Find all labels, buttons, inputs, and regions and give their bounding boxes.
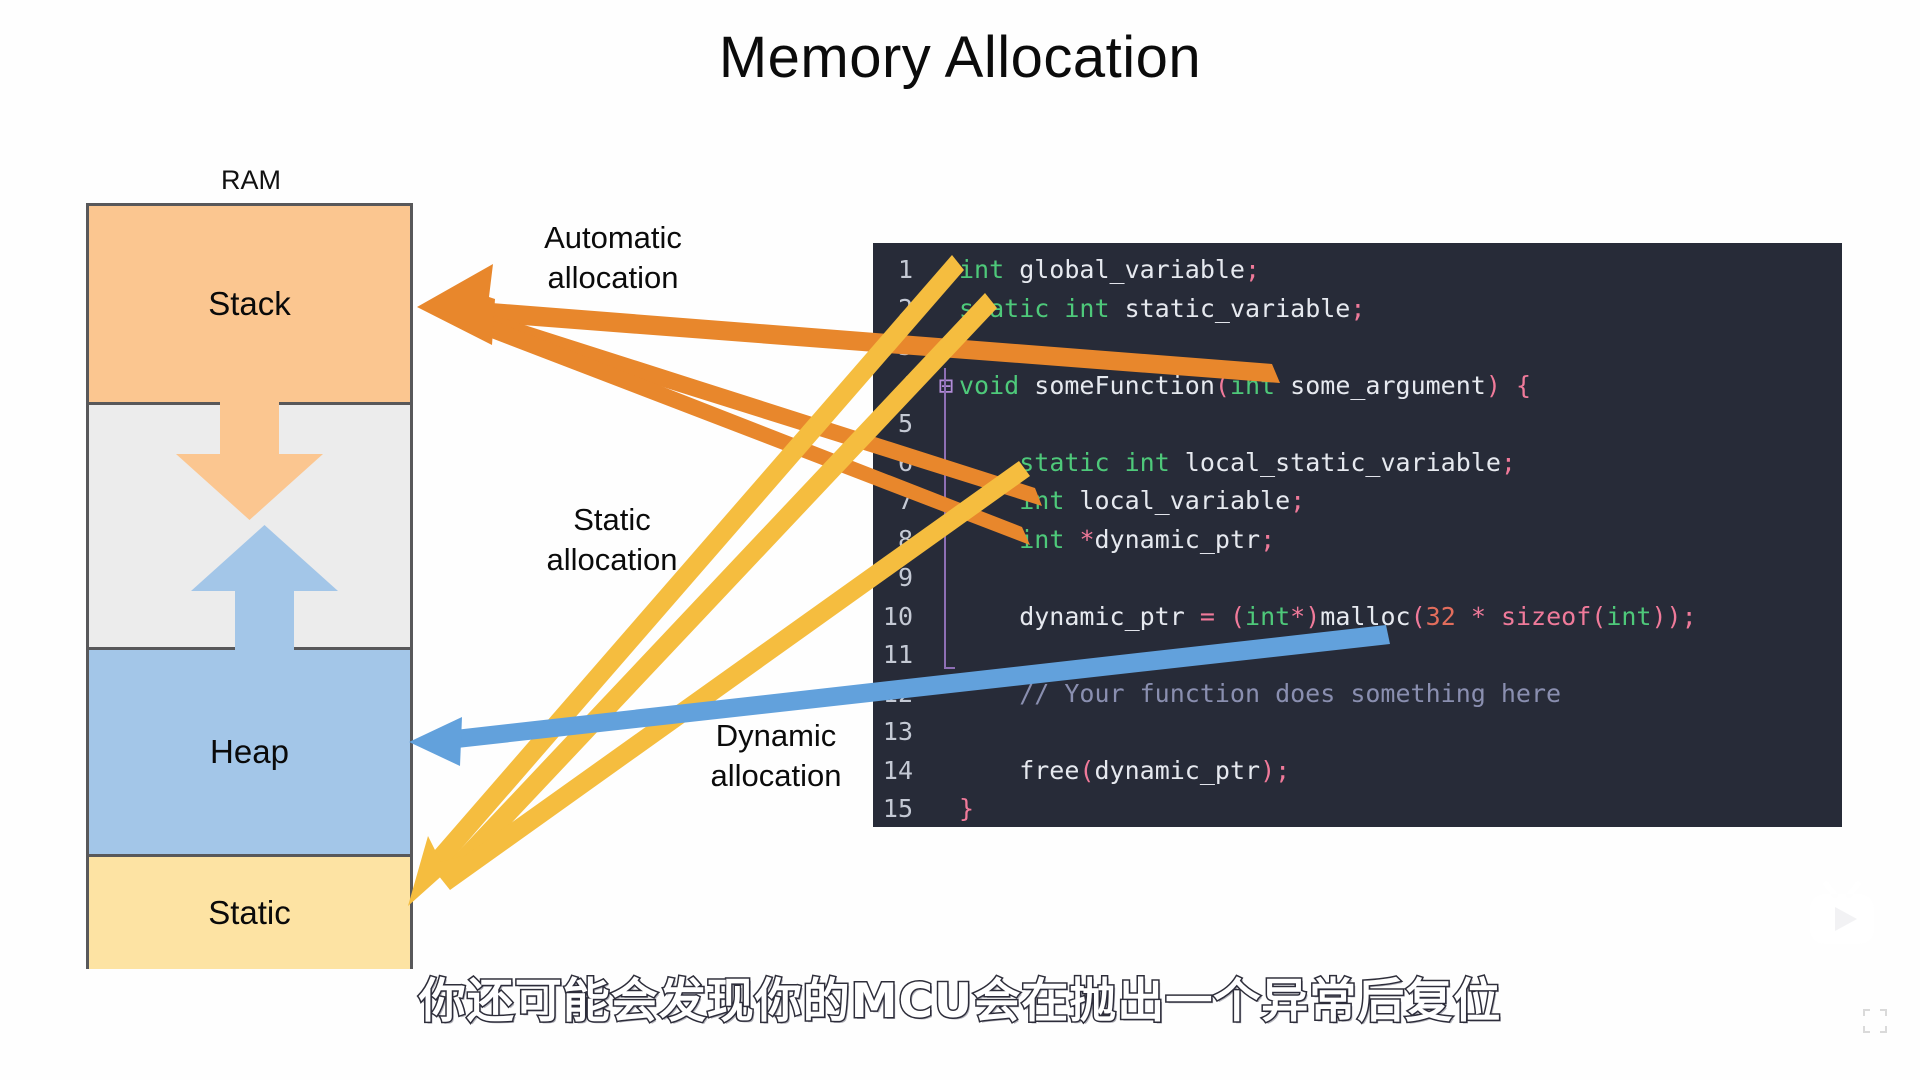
code-editor-panel: 1 int global_variable; 2 static int stat…	[873, 243, 1842, 827]
code-line-text: int local_variable;	[959, 482, 1305, 521]
code-line-number: 9	[873, 559, 933, 598]
code-line-number: 4	[873, 367, 933, 406]
code-line-number: 5	[873, 405, 933, 444]
code-line-text: void someFunction(int some_argument) {	[959, 367, 1531, 406]
code-line: 7 int local_variable;	[873, 482, 1842, 521]
annotation-label-dynamic: Dynamic allocation	[666, 716, 886, 795]
code-line-number: 6	[873, 444, 933, 483]
memory-segment-stack-label: Stack	[208, 285, 291, 323]
page-title: Memory Allocation	[0, 26, 1920, 90]
memory-segment-static-label: Static	[208, 894, 291, 932]
code-line: 4 ⊟ void someFunction(int some_argument)…	[873, 367, 1842, 406]
annotation-static-line1: Static	[512, 500, 712, 540]
code-line-number: 7	[873, 482, 933, 521]
code-line: 2 static int static_variable;	[873, 290, 1842, 329]
memory-segment-heap: Heap	[89, 650, 410, 857]
code-line-text: static int local_static_variable;	[959, 444, 1516, 483]
code-fold-toggle	[933, 290, 959, 329]
memory-segment-static: Static	[89, 857, 410, 969]
code-fold-toggle	[933, 482, 959, 521]
code-fold-toggle	[933, 790, 959, 827]
code-line: 10 dynamic_ptr = (int*)malloc(32 * sizeo…	[873, 598, 1842, 637]
code-fold-guide-foot	[944, 667, 955, 669]
code-fold-toggle	[933, 328, 959, 367]
code-line: 3	[873, 328, 1842, 367]
code-line-number: 15	[873, 790, 933, 827]
code-fold-toggle	[933, 559, 959, 598]
ram-label: RAM	[86, 165, 416, 196]
code-line: 12 // Your function does something here	[873, 675, 1842, 714]
code-line-text: int *dynamic_ptr;	[959, 521, 1275, 560]
code-line-text: dynamic_ptr = (int*)malloc(32 * sizeof(i…	[959, 598, 1697, 637]
code-fold-toggle	[933, 405, 959, 444]
annotation-dynamic-line2: allocation	[666, 756, 886, 796]
code-line-number: 1	[873, 251, 933, 290]
code-fold-toggle	[933, 444, 959, 483]
code-fold-toggle	[933, 251, 959, 290]
heap-growth-up-arrow	[178, 525, 351, 653]
annotation-automatic-line2: allocation	[498, 258, 728, 298]
code-line-text: static int static_variable;	[959, 290, 1365, 329]
video-subtitle: 你还可能会发现你的MCU会在抛出一个异常后复位	[0, 962, 1920, 1031]
slide-canvas: Memory Allocation RAM Stack Heap Static …	[0, 0, 1920, 1080]
code-fold-guide	[944, 368, 946, 668]
code-line-number: 8	[873, 521, 933, 560]
code-line: 11	[873, 636, 1842, 675]
code-line-number: 2	[873, 290, 933, 329]
code-line: 9	[873, 559, 1842, 598]
annotation-label-static: Static allocation	[512, 500, 712, 579]
code-line-text: // Your function does something here	[959, 675, 1561, 714]
code-fold-toggle	[933, 598, 959, 637]
memory-segment-heap-label: Heap	[210, 733, 289, 771]
code-fold-toggle	[933, 713, 959, 752]
code-line: 5	[873, 405, 1842, 444]
code-line: 6 static int local_static_variable;	[873, 444, 1842, 483]
code-content: 1 int global_variable; 2 static int stat…	[873, 243, 1842, 827]
code-line-text: int global_variable;	[959, 251, 1260, 290]
memory-segment-stack: Stack	[89, 206, 410, 405]
annotation-automatic-line1: Automatic	[498, 218, 728, 258]
code-line-number: 12	[873, 675, 933, 714]
code-line-text: free(dynamic_ptr);	[959, 752, 1290, 791]
code-line-number: 11	[873, 636, 933, 675]
annotation-dynamic-line1: Dynamic	[666, 716, 886, 756]
code-line-number: 3	[873, 328, 933, 367]
code-line: 1 int global_variable;	[873, 251, 1842, 290]
code-line: 8 int *dynamic_ptr;	[873, 521, 1842, 560]
code-fold-toggle	[933, 675, 959, 714]
annotation-static-line2: allocation	[512, 540, 712, 580]
code-line-number: 10	[873, 598, 933, 637]
code-fold-toggle	[933, 521, 959, 560]
code-line: 15 }	[873, 790, 1842, 827]
code-line: 14 free(dynamic_ptr);	[873, 752, 1842, 791]
stack-growth-down-arrow	[163, 392, 336, 520]
code-fold-collapse-icon[interactable]: ⊟	[933, 367, 959, 406]
code-line-text: }	[959, 790, 974, 827]
code-fold-toggle	[933, 752, 959, 791]
bilibili-tv-icon	[1802, 878, 1882, 952]
annotation-label-automatic: Automatic allocation	[498, 218, 728, 297]
code-line: 13	[873, 713, 1842, 752]
